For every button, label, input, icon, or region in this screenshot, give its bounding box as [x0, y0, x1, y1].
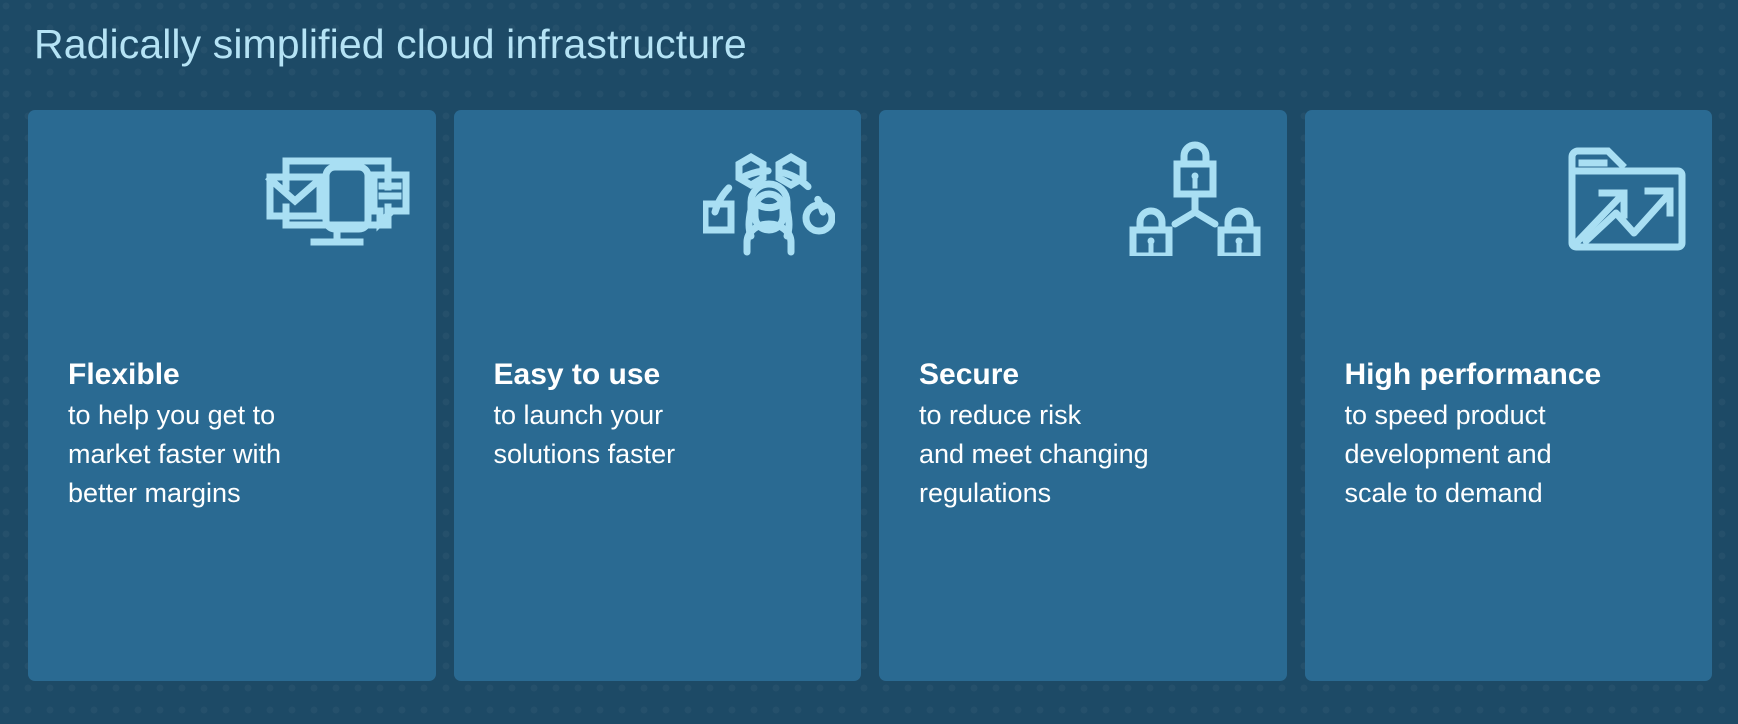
feature-card-flexible[interactable]: Flexible to help you get to market faste…	[28, 110, 436, 681]
growth-chart-folder-icon	[1526, 134, 1686, 259]
feature-card-heading: Flexible	[68, 355, 414, 395]
page-title: Radically simplified cloud infrastructur…	[34, 18, 747, 70]
feature-card-body-line: to speed product	[1345, 396, 1691, 435]
feature-card-heading: Easy to use	[494, 355, 840, 395]
feature-card-body-line: solutions faster	[494, 435, 840, 474]
feature-card-high-performance[interactable]: High performance to speed product develo…	[1305, 110, 1713, 681]
feature-card-body: to reduce risk and meet changing regulat…	[919, 396, 1265, 513]
feature-card-body: to help you get to market faster with be…	[68, 396, 414, 513]
feature-card-body: to speed product development and scale t…	[1345, 396, 1691, 513]
feature-card-body: to launch your solutions faster	[494, 396, 840, 474]
feature-card-body-line: development and	[1345, 435, 1691, 474]
feature-card-text: Secure to reduce risk and meet changing …	[919, 355, 1265, 513]
feature-card-text: High performance to speed product develo…	[1345, 355, 1691, 513]
feature-card-body-line: to reduce risk	[919, 396, 1265, 435]
feature-card-body-line: market faster with	[68, 435, 414, 474]
feature-card-easy-to-use[interactable]: Easy to use to launch your solutions fas…	[454, 110, 862, 681]
feature-card-text: Easy to use to launch your solutions fas…	[494, 355, 840, 474]
feature-card-row: Flexible to help you get to market faste…	[28, 110, 1712, 681]
feature-card-body-line: regulations	[919, 474, 1265, 513]
infographic-slide: Radically simplified cloud infrastructur…	[0, 0, 1738, 724]
feature-card-body-line: and meet changing	[919, 435, 1265, 474]
connected-padlocks-icon	[1101, 134, 1261, 259]
feature-card-body-line: to help you get to	[68, 396, 414, 435]
devices-messaging-icon	[250, 134, 410, 259]
feature-card-heading: High performance	[1345, 355, 1691, 395]
user-network-shapes-icon	[675, 134, 835, 259]
feature-card-body-line: scale to demand	[1345, 474, 1691, 513]
feature-card-secure[interactable]: Secure to reduce risk and meet changing …	[879, 110, 1287, 681]
feature-card-text: Flexible to help you get to market faste…	[68, 355, 414, 513]
feature-card-body-line: to launch your	[494, 396, 840, 435]
feature-card-heading: Secure	[919, 355, 1265, 395]
feature-card-body-line: better margins	[68, 474, 414, 513]
